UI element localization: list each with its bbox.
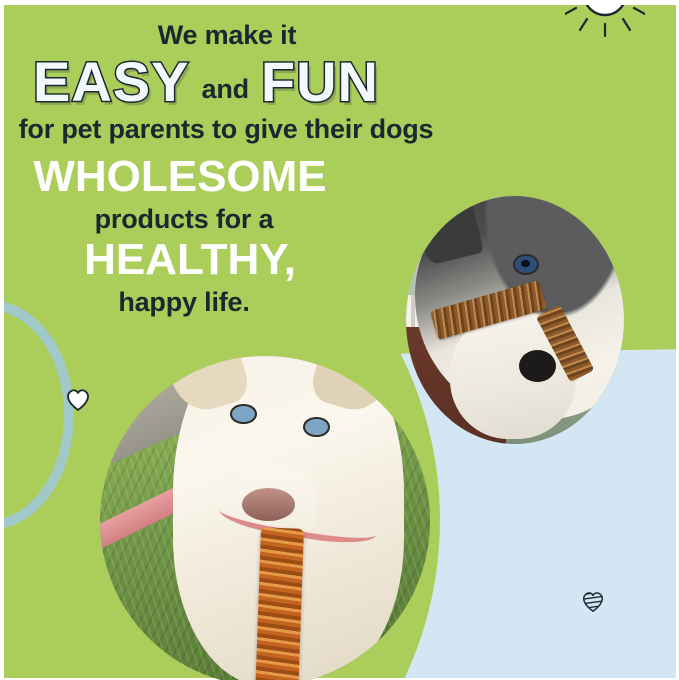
headline-line-6: HEALTHY, <box>0 237 600 283</box>
striped-heart-icon <box>580 588 606 614</box>
frame-edge-top <box>0 0 679 5</box>
headline-line-1: We make it <box>0 20 600 51</box>
dog-eye-right <box>305 419 328 436</box>
headline-word-easy: EASY <box>33 54 190 110</box>
dog-treat-stick <box>255 527 304 680</box>
dog-eye-left <box>232 406 255 423</box>
headline-block: We make it EASY and FUN for pet parents … <box>0 20 600 319</box>
headline-line-3: for pet parents to give their dogs <box>0 114 600 145</box>
headline-line-4: WHOLESOME <box>0 154 600 200</box>
promo-banner: We make it EASY and FUN for pet parents … <box>0 0 679 680</box>
headline-line-7: happy life. <box>0 287 600 318</box>
headline-word-and: and <box>202 76 249 103</box>
headline-line-5: products for a <box>0 204 600 235</box>
heart-icon <box>64 385 92 413</box>
headline-word-fun: FUN <box>261 54 379 110</box>
photo-white-dog <box>100 356 430 680</box>
headline-line-2: EASY and FUN <box>0 54 600 110</box>
